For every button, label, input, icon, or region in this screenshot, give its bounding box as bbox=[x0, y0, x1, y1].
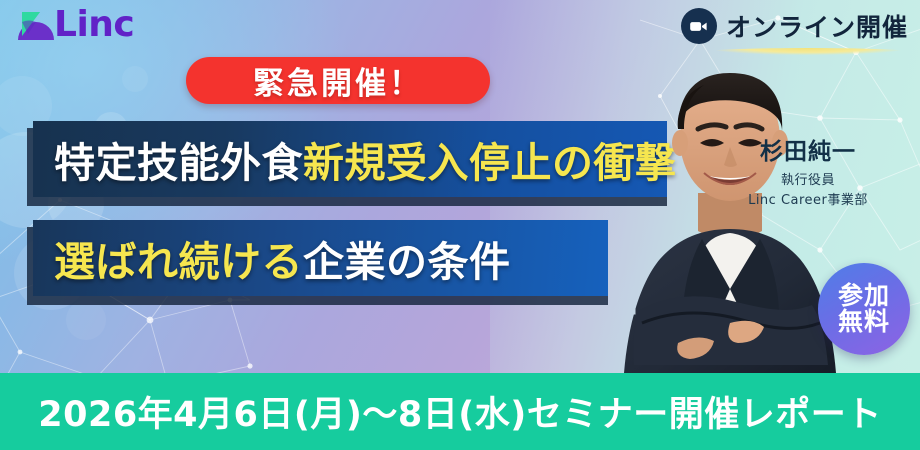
headline-2-white: 企業の条件 bbox=[303, 238, 511, 286]
free-badge-line1: 参加 bbox=[838, 283, 890, 310]
headline-bar-1: 特定技能外食新規受入停止の衝撃 bbox=[33, 121, 667, 197]
video-camera-glyph bbox=[688, 16, 709, 37]
speaker-department: Linc Career事業部 bbox=[718, 191, 898, 211]
linc-logo-mark-icon bbox=[14, 10, 58, 44]
speaker-role: 執行役員 bbox=[718, 171, 898, 191]
seminar-banner: Linc オンライン開催 緊急開催！ 特定技能外食新規受入停止の衝撃 選ばれ続け… bbox=[0, 0, 920, 450]
headline-2-text: 選ばれ続ける企業の条件 bbox=[33, 228, 511, 288]
footer-date-text: 2026年4月6日(月)〜8日(水)セミナー開催レポート bbox=[38, 386, 881, 437]
urgent-badge-label: 緊急開催！ bbox=[253, 58, 423, 103]
bokeh-circle bbox=[66, 300, 106, 340]
video-camera-icon bbox=[681, 8, 717, 44]
linc-logo-text: Linc bbox=[54, 4, 134, 45]
linc-logo[interactable]: Linc bbox=[14, 6, 134, 48]
bokeh-circle bbox=[122, 66, 148, 92]
speaker-info: 杉田純一 執行役員 Linc Career事業部 bbox=[718, 132, 898, 210]
speaker-name: 杉田純一 bbox=[718, 132, 898, 166]
footer-date-bar: 2026年4月6日(月)〜8日(水)セミナー開催レポート bbox=[0, 373, 920, 450]
online-event-label: オンライン開催 bbox=[726, 8, 908, 44]
free-badge-line2: 無料 bbox=[838, 309, 890, 336]
headline-1-white: 特定技能外食 bbox=[54, 139, 303, 187]
online-event-badge: オンライン開催 bbox=[681, 8, 908, 44]
headline-2-yellow: 選ばれ続ける bbox=[54, 238, 303, 286]
free-participation-badge: 参加 無料 bbox=[818, 263, 910, 355]
urgent-badge: 緊急開催！ bbox=[186, 57, 490, 104]
headline-bar-2: 選ばれ続ける企業の条件 bbox=[33, 220, 608, 296]
